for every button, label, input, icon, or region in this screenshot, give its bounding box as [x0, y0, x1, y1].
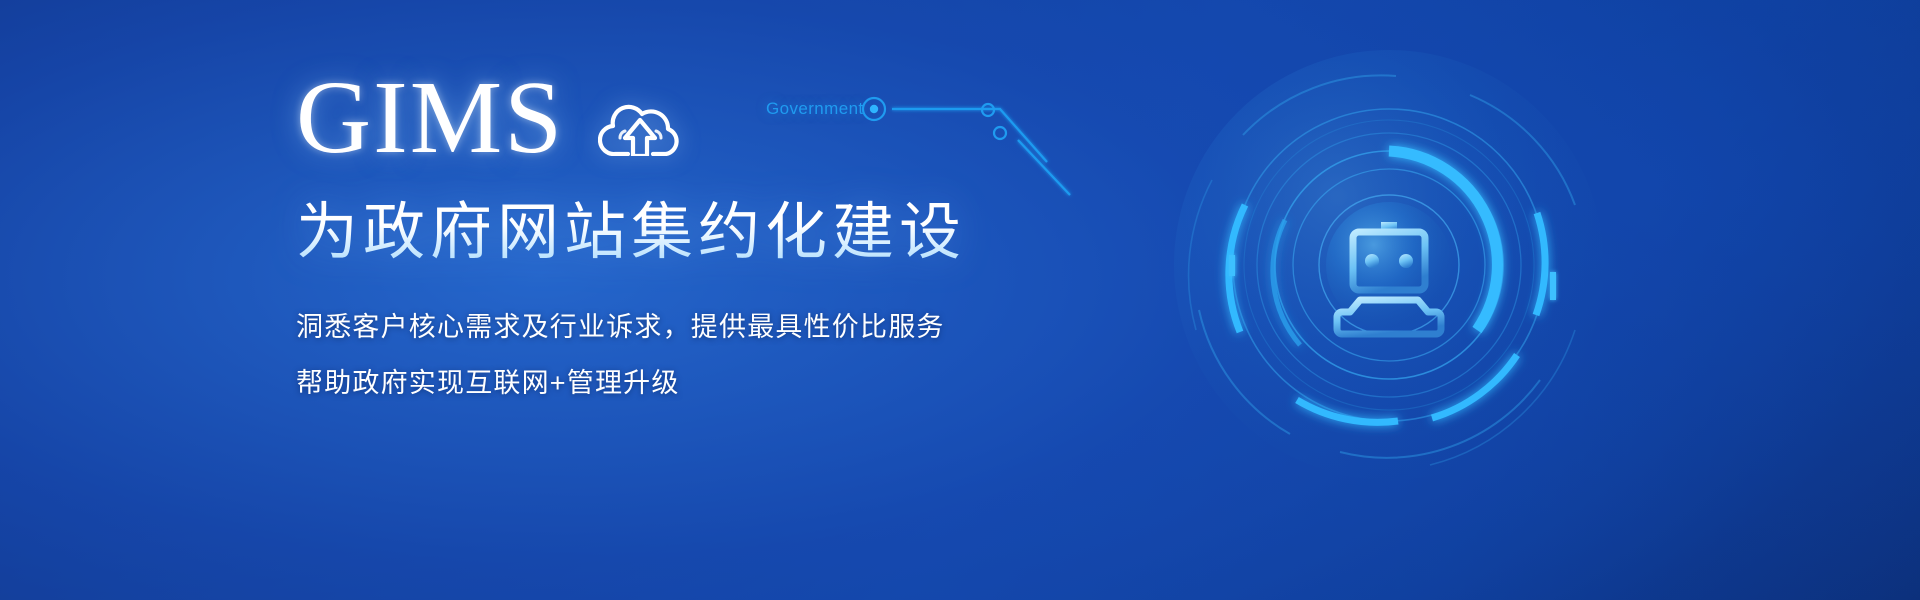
cloud-upload-icon	[598, 94, 682, 156]
hero-headline: 为政府网站集约化建设	[296, 196, 1196, 270]
hero-subtitle: 洞悉客户核心需求及行业诉求，提供最具性价比服务 帮助政府实现互联网+管理升级	[296, 310, 1196, 400]
brand-title: GIMS	[296, 66, 564, 170]
subtitle-line-1: 洞悉客户核心需求及行业诉求，提供最具性价比服务	[296, 310, 1196, 344]
node-label-government: Government	[766, 99, 864, 119]
hero-copy: GIMS 为政府网站集约化建设 洞悉客户核心需求及行业诉求，提供最具性价比服务 …	[296, 62, 1196, 422]
brand-row: GIMS	[296, 62, 1196, 174]
hero-banner: Government GIMS 为政府网站集约化建设 洞悉客户核心需求及行业诉求…	[0, 0, 1920, 600]
subtitle-line-2: 帮助政府实现互联网+管理升级	[296, 366, 1196, 400]
